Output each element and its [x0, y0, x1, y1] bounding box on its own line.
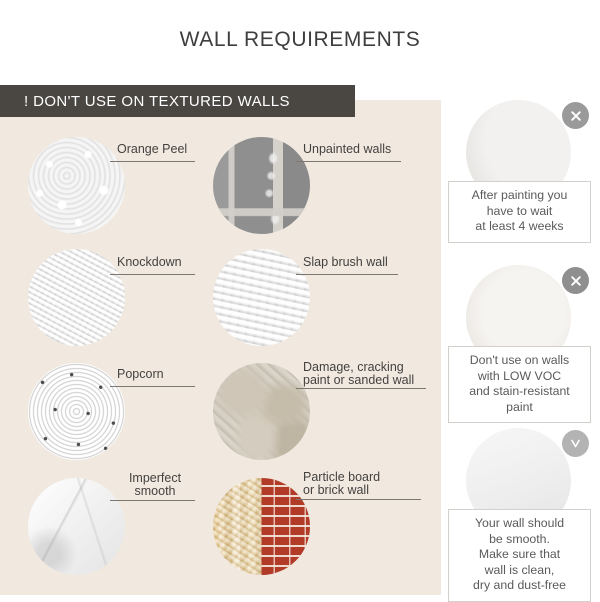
cross-icon — [562, 102, 589, 129]
swatch-damaged-wall — [213, 363, 310, 460]
check-icon — [562, 430, 589, 457]
swatch-slap-brush-wall — [213, 249, 310, 346]
swatch-orange-peel — [28, 137, 125, 234]
swatch-particle-board-brick — [213, 478, 310, 575]
swatch-rule-imperfect-smooth — [110, 500, 195, 501]
infographic-page: WALL REQUIREMENTS ! DON'T USE ON TEXTURE… — [0, 0, 600, 600]
warning-banner: ! DON'T USE ON TEXTURED WALLS — [0, 85, 355, 117]
swatch-rule-damaged-wall — [296, 388, 426, 389]
swatch-label-orange-peel: Orange Peel — [117, 143, 187, 156]
swatch-imperfect-smooth — [28, 478, 125, 575]
swatch-rule-unpainted-walls — [296, 161, 401, 162]
swatch-label-popcorn: Popcorn — [117, 368, 164, 381]
swatch-rule-knockdown — [110, 274, 195, 275]
swatch-rule-slap-brush-wall — [296, 274, 398, 275]
page-title: WALL REQUIREMENTS — [0, 28, 600, 52]
tip-caption-low-voc: Don't use on walls with LOW VOC and stai… — [448, 346, 591, 423]
swatch-rule-particle-board-brick — [296, 499, 421, 500]
swatch-rule-orange-peel — [110, 161, 195, 162]
cross-icon — [562, 267, 589, 294]
warning-banner-label: ! DON'T USE ON TEXTURED WALLS — [0, 93, 290, 110]
swatch-popcorn — [28, 363, 125, 460]
swatch-unpainted-walls — [213, 137, 310, 234]
swatch-label-imperfect-smooth: Imperfect smooth — [115, 472, 195, 498]
swatch-label-slap-brush-wall: Slap brush wall — [303, 256, 388, 269]
swatch-label-unpainted-walls: Unpainted walls — [303, 143, 391, 156]
tip-caption-smooth-wall: Your wall should be smooth. Make sure th… — [448, 509, 591, 602]
swatch-rule-popcorn — [110, 386, 195, 387]
swatch-label-damaged-wall: Damage, cracking paint or sanded wall — [303, 361, 414, 387]
swatch-label-particle-board-brick: Particle board or brick wall — [303, 471, 380, 497]
swatch-label-knockdown: Knockdown — [117, 256, 182, 269]
swatch-knockdown — [28, 249, 125, 346]
tip-caption-wait-4-weeks: After painting you have to wait at least… — [448, 181, 591, 243]
